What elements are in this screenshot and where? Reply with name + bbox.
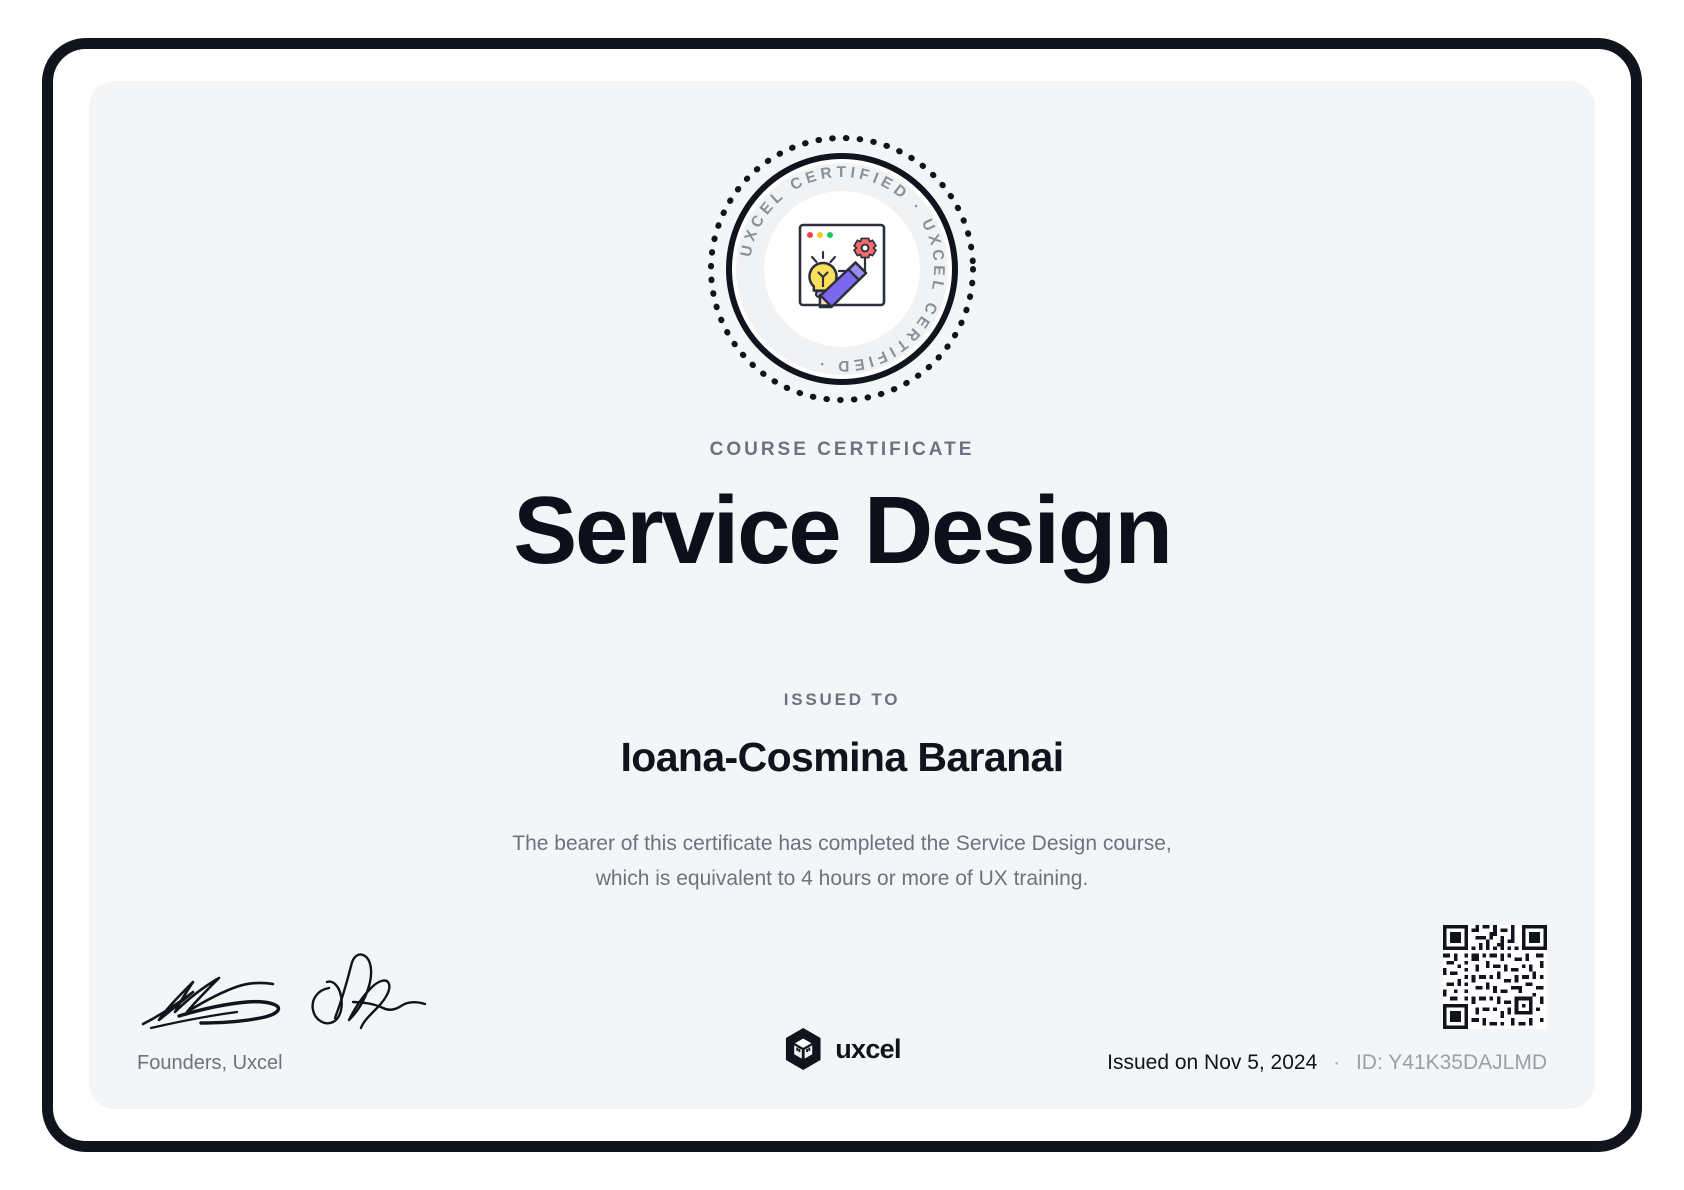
description-line-1: The bearer of this certificate has compl… bbox=[512, 827, 1172, 862]
certificate-description: The bearer of this certificate has compl… bbox=[512, 827, 1172, 896]
uxcel-logo: uxcel bbox=[783, 1027, 901, 1071]
uxcel-wordmark: uxcel bbox=[835, 1034, 901, 1065]
certificate-id: ID: Y41K35DAJLMD bbox=[1356, 1051, 1547, 1074]
certificate-root: UXCEL CERTIFIED · UXCEL CERTIFIED · bbox=[0, 0, 1684, 1190]
course-title: Service Design bbox=[513, 481, 1171, 582]
founder-signatures-icon bbox=[137, 946, 437, 1038]
signature-block: Founders, Uxcel bbox=[137, 946, 557, 1075]
certificate-frame: UXCEL CERTIFIED · UXCEL CERTIFIED · bbox=[42, 38, 1642, 1152]
meta-separator: · bbox=[1323, 1051, 1350, 1074]
dot-red-icon bbox=[807, 232, 813, 238]
certificate-inner-panel: UXCEL CERTIFIED · UXCEL CERTIFIED · bbox=[89, 81, 1595, 1109]
recipient-name: Ioana-Cosmina Baranai bbox=[620, 734, 1063, 781]
issued-date: Issued on Nov 5, 2024 bbox=[1107, 1051, 1317, 1074]
whiteboard-lightbulb-pencil-icon bbox=[800, 225, 884, 307]
founders-label: Founders, Uxcel bbox=[137, 1052, 557, 1075]
signature-marks bbox=[137, 946, 557, 1038]
certification-seal: UXCEL CERTIFIED · UXCEL CERTIFIED · bbox=[702, 129, 982, 409]
dot-green-icon bbox=[827, 232, 833, 238]
certificate-kicker: COURSE CERTIFICATE bbox=[710, 439, 975, 461]
certificate-footer: Founders, Uxcel bbox=[89, 895, 1595, 1075]
description-line-2: which is equivalent to 4 hours or more o… bbox=[512, 862, 1172, 897]
qr-code[interactable] bbox=[1443, 925, 1547, 1029]
meta-line: Issued on Nov 5, 2024 · ID: Y41K35DAJLMD bbox=[1107, 1051, 1547, 1075]
certificate-meta: Issued on Nov 5, 2024 · ID: Y41K35DAJLMD bbox=[1107, 925, 1547, 1075]
uxcel-hexagon-icon bbox=[783, 1027, 823, 1071]
gear-icon bbox=[854, 238, 876, 257]
issued-to-label: ISSUED TO bbox=[784, 690, 901, 710]
dot-yellow-icon bbox=[817, 232, 823, 238]
certificate-content: UXCEL CERTIFIED · UXCEL CERTIFIED · bbox=[89, 81, 1595, 1109]
